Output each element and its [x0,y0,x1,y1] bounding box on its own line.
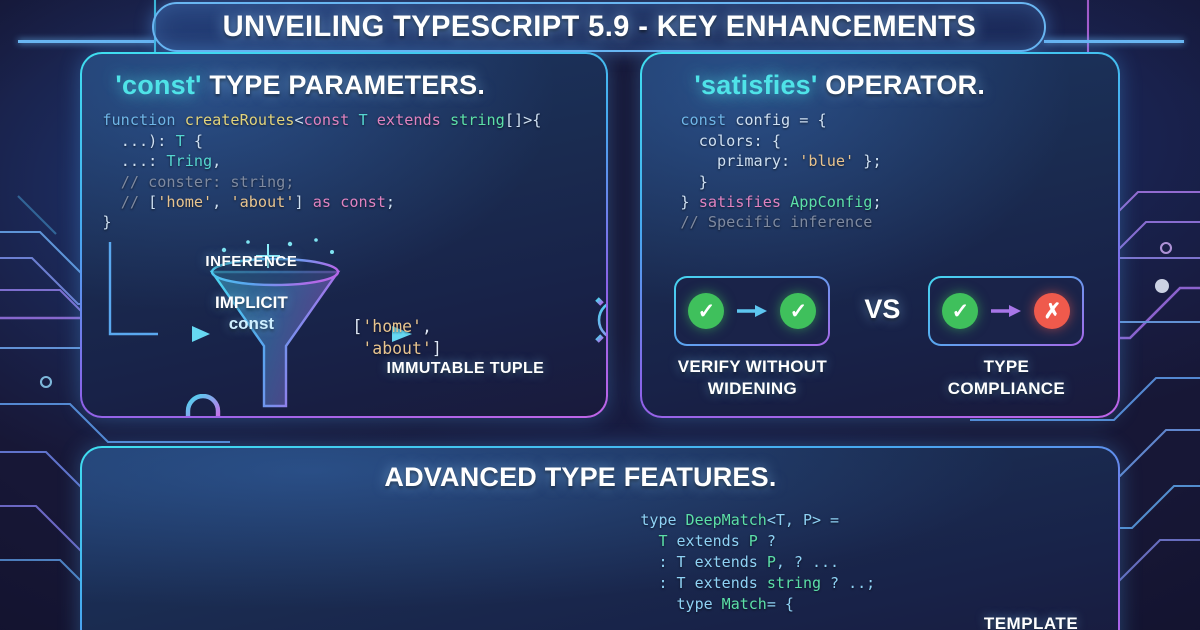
funnel-graphic-icon [100,234,600,414]
panel-advanced-title: ADVANCED TYPE FEATURES. [384,462,776,493]
arrow-right-icon [737,304,767,318]
title-connector-right [1044,40,1184,43]
lock-icon [174,394,232,415]
arrow-right-icon [991,304,1021,318]
comparison-caption-compliance: TYPE COMPLIANCE [896,356,1116,400]
comparison-box-compliance: ✓ ✗ [928,276,1084,346]
code-block-const-params: function createRoutes<const T extends st… [102,110,541,232]
gears-icon [582,272,605,350]
panel-advanced-type-features: ADVANCED TYPE FEATURES. type DeepMatch<T… [80,446,1120,630]
caption-line: TYPE [896,356,1116,378]
panel-const-title-rest: TYPE PARAMETERS. [202,70,485,100]
caption-line: WIDENING [642,378,862,400]
funnel-body-label-1: IMPLICIT [176,293,326,313]
panel-const-title-keyword: 'const' [115,70,201,100]
check-badge-icon: ✓ [780,293,816,329]
template-label: TEMPLATE [936,614,1126,630]
code-block-advanced: type DeepMatch<T, P> = T extends P ? : T… [640,510,875,615]
caption-line: COMPLIANCE [896,378,1116,400]
panel-satisfies-operator: 'satisfies' OPERATOR. const config = { c… [640,52,1120,418]
cross-badge-icon: ✗ [1034,293,1070,329]
panel-satisfies-title-keyword: 'satisfies' [694,70,817,100]
funnel-output-caption: IMMUTABLE TUPLE [355,360,575,378]
panel-satisfies-title: 'satisfies' OPERATOR. [694,70,985,101]
funnel-output-value: ['home', 'about'] [352,316,441,360]
funnel-top-label: INFERENCE [176,253,326,270]
funnel-body-label-2: const [176,314,326,334]
panel-const-title: 'const' TYPE PARAMETERS. [115,70,485,101]
inference-funnel-diagram: INFERENCE IMPLICIT const ['home', 'about… [100,234,600,414]
comparison-group: ✓ ✓ VS ✓ ✗ [660,276,1104,406]
versus-label: VS [850,294,914,325]
panel-satisfies-title-rest: OPERATOR. [818,70,986,100]
caption-line: VERIFY WITHOUT [642,356,862,378]
comparison-box-verify: ✓ ✓ [674,276,830,346]
panel-const-type-parameters: 'const' TYPE PARAMETERS. function create… [80,52,608,418]
check-badge-icon: ✓ [688,293,724,329]
title-connector-left [18,40,154,43]
page-title-banner: UNVEILING TYPESCRIPT 5.9 - KEY ENHANCEME… [152,2,1046,52]
page-title: UNVEILING TYPESCRIPT 5.9 - KEY ENHANCEME… [222,10,975,44]
check-badge-icon: ✓ [942,293,978,329]
code-block-satisfies: const config = { colors: { primary: 'blu… [680,110,881,232]
comparison-caption-verify: VERIFY WITHOUT WIDENING [642,356,862,400]
